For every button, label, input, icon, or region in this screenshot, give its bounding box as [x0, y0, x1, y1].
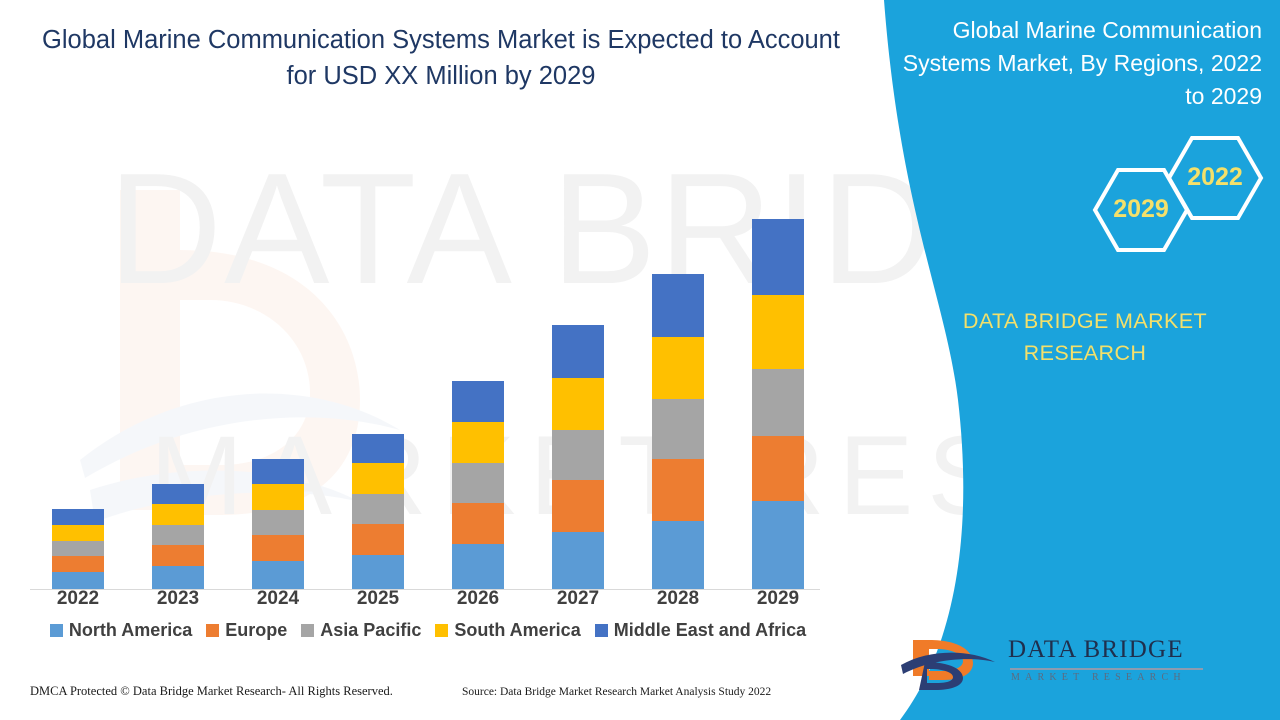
legend-item: Asia Pacific — [301, 620, 421, 641]
bar-segment — [552, 532, 604, 589]
bar-segment — [52, 509, 104, 525]
chart-plot-area — [20, 189, 820, 589]
bar-segment — [752, 501, 804, 589]
bar-segment — [552, 325, 604, 378]
bar-segment — [152, 525, 204, 545]
legend-item: Middle East and Africa — [595, 620, 806, 641]
footer-source: Source: Data Bridge Market Research Mark… — [462, 686, 771, 698]
bar-segment — [552, 480, 604, 532]
bar-segment — [52, 541, 104, 556]
x-tick-label: 2024 — [233, 588, 323, 610]
bar-segment — [652, 337, 704, 399]
x-tick-label: 2023 — [133, 588, 223, 610]
logo-tagline: MARKET RESEARCH — [1011, 672, 1186, 683]
bar-segment — [52, 556, 104, 572]
bar-segment — [652, 459, 704, 521]
bar-segment — [152, 545, 204, 566]
legend-swatch-icon — [50, 624, 63, 637]
bar-segment — [352, 434, 404, 463]
bar-segment — [152, 566, 204, 589]
legend-label: Middle East and Africa — [614, 620, 806, 641]
bar-segment — [552, 378, 604, 430]
bar-2025 — [352, 434, 404, 589]
bar-segment — [452, 503, 504, 544]
legend-swatch-icon — [435, 624, 448, 637]
bar-segment — [652, 521, 704, 589]
legend-label: North America — [69, 620, 192, 641]
bar-segment — [752, 219, 804, 295]
bar-segment — [752, 295, 804, 369]
logo-divider — [1010, 668, 1203, 670]
data-bridge-mark-icon — [895, 632, 1005, 692]
x-tick-label: 2022 — [33, 588, 123, 610]
hex-label-2029: 2029 — [1095, 195, 1187, 224]
bar-segment — [252, 484, 304, 510]
bar-segment — [252, 535, 304, 561]
chart-legend: North AmericaEuropeAsia PacificSouth Ame… — [20, 616, 836, 644]
bar-2022 — [52, 509, 104, 589]
legend-swatch-icon — [206, 624, 219, 637]
x-tick-label: 2025 — [333, 588, 423, 610]
bar-segment — [452, 463, 504, 503]
bar-segment — [52, 525, 104, 541]
infographic-canvas: DATA BRIDGE MARKET RESEARCH Global Marin… — [0, 0, 1280, 720]
legend-label: South America — [454, 620, 580, 641]
bar-2023 — [152, 484, 204, 589]
bar-segment — [452, 422, 504, 463]
data-bridge-logo: DATA BRIDGE MARKET RESEARCH — [895, 632, 1215, 694]
panel-brand-text: DATA BRIDGE MARKET RESEARCH — [910, 305, 1260, 369]
bar-2029 — [752, 219, 804, 589]
bar-segment — [352, 555, 404, 589]
bar-2028 — [652, 274, 704, 589]
hex-label-2022: 2022 — [1169, 163, 1261, 192]
panel-content: Global Marine Communication Systems Mark… — [890, 0, 1280, 720]
bar-segment — [252, 459, 304, 484]
bar-segment — [352, 524, 404, 555]
bar-segment — [652, 399, 704, 459]
bar-segment — [752, 436, 804, 501]
bar-segment — [52, 572, 104, 589]
legend-item: South America — [435, 620, 580, 641]
bar-2027 — [552, 325, 604, 589]
bar-segment — [352, 494, 404, 524]
x-tick-label: 2027 — [533, 588, 623, 610]
panel-title: Global Marine Communication Systems Mark… — [898, 14, 1262, 113]
legend-label: Asia Pacific — [320, 620, 421, 641]
bar-segment — [452, 544, 504, 589]
hexagon-badges: 2022 2029 — [1000, 130, 1280, 265]
legend-item: Europe — [206, 620, 287, 641]
logo-wordmark: DATA BRIDGE — [1008, 636, 1184, 664]
footer-copyright: DMCA Protected © Data Bridge Market Rese… — [30, 684, 393, 699]
bar-segment — [752, 369, 804, 436]
bar-segment — [152, 484, 204, 504]
page-title: Global Marine Communication Systems Mark… — [26, 22, 856, 94]
bar-2026 — [452, 381, 504, 589]
chart-x-axis-labels: 20222023202420252026202720282029 — [20, 588, 820, 618]
legend-label: Europe — [225, 620, 287, 641]
x-tick-label: 2026 — [433, 588, 523, 610]
legend-swatch-icon — [595, 624, 608, 637]
bar-segment — [452, 381, 504, 422]
x-tick-label: 2028 — [633, 588, 723, 610]
bar-segment — [352, 463, 404, 494]
stacked-bar-chart — [20, 170, 820, 590]
bar-segment — [652, 274, 704, 337]
bar-segment — [152, 504, 204, 525]
x-tick-label: 2029 — [733, 588, 823, 610]
legend-swatch-icon — [301, 624, 314, 637]
bar-segment — [252, 510, 304, 535]
legend-item: North America — [50, 620, 192, 641]
bar-2024 — [252, 459, 304, 589]
bar-segment — [552, 430, 604, 480]
bar-segment — [252, 561, 304, 589]
